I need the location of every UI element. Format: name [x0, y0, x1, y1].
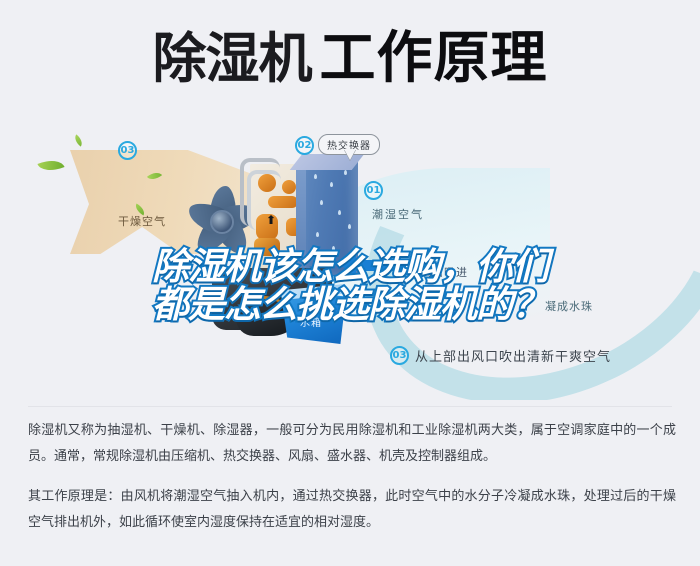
caption-03-row: 03 从上部出风口吹出清新干爽空气 [390, 346, 611, 365]
header-banner: 除湿机 工作原理 [0, 0, 700, 118]
marker-03-caption: 03 [390, 346, 409, 365]
page-title-part2: 工作原理 [320, 31, 548, 87]
caption-03-text: 从上部出风口吹出清新干爽空气 [415, 346, 611, 365]
condense-label: 凝成水珠 [545, 298, 593, 314]
copper-coil [254, 238, 280, 256]
page-title-part1: 除湿机 [153, 32, 312, 86]
marker-02: 02 [295, 136, 314, 155]
intake-label: 风口吸进 [420, 264, 468, 280]
content-divider [28, 406, 672, 407]
copper-coil [282, 180, 296, 194]
fan-hub [210, 210, 234, 234]
page-title: 除湿机 工作原理 [153, 31, 548, 87]
article-paragraph-2: 其工作原理是：由风机将潮湿空气抽入机内，通过热交换器，此时空气中的水分子冷凝成水… [28, 484, 676, 536]
callout-tail-icon [344, 149, 356, 160]
copper-ring-icon [243, 296, 283, 314]
leaf-icon [72, 134, 85, 146]
copper-coil [258, 174, 276, 192]
dry-air-label: 干燥空气 [118, 213, 166, 229]
marker-01: 01 [364, 181, 383, 200]
copper-coil [268, 196, 298, 208]
dehumidifier-diagram: 干燥空气 ➡ ⬆ ⬇ [0, 118, 700, 400]
article-body: 除湿机又称为抽湿机、干燥机、除湿器，一般可分为民用除湿机和工业除湿机两大类，属于… [28, 418, 676, 550]
water-tank-label: 水箱 [300, 314, 322, 329]
intake-arrow-icon [352, 260, 406, 271]
page-root: 除湿机 工作原理 干燥空气 ➡ ⬆ [0, 0, 700, 566]
marker-03-top: 03 [118, 141, 137, 160]
leaf-icon [37, 155, 64, 176]
intake-arrow-head-icon [340, 254, 356, 276]
humid-air-label: 潮湿空气 [372, 206, 424, 222]
article-paragraph-1: 除湿机又称为抽湿机、干燥机、除湿器，一般可分为民用除湿机和工业除湿机两大类，属于… [28, 418, 676, 470]
flow-arrow-up-icon: ⬆ [266, 214, 276, 226]
